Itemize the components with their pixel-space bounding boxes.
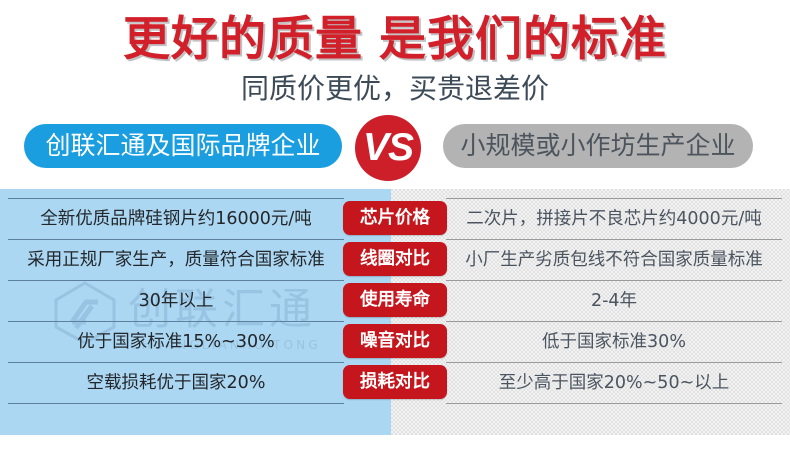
vs-badge: VS [355,115,421,181]
row-right-value: 2-4年 [446,281,782,321]
vs-band: 创联汇通及国际品牌企业 VS 小规模或小作坊生产企业 [0,118,790,180]
row-badge: 噪音对比 [343,324,447,358]
row-left-value: 全新优质品牌硅钢片约16000元/吨 [8,199,344,239]
vs-right-pill: 小规模或小作坊生产企业 [443,124,753,168]
table-row: 30年以上 使用寿命 2-4年 [0,280,790,321]
page-title: 更好的质量是我们的标准 [0,12,790,68]
row-right-value: 小厂生产劣质包线不符合国家质量标准 [446,240,782,280]
row-right-value: 至少高于国家20%~50~以上 [446,363,782,403]
promo-comparison-page: 更好的质量是我们的标准 同质价更优，买贵退差价 创联汇通及国际品牌企业 VS 小… [0,0,790,464]
row-badge: 线圈对比 [343,242,447,276]
table-bottom-divider-left [8,403,344,404]
row-badge: 使用寿命 [343,283,447,317]
row-left-value: 空载损耗优于国家20% [8,363,344,403]
row-badge: 芯片价格 [343,201,447,235]
row-left-value: 采用正规厂家生产，质量符合国家标准 [8,240,344,280]
row-badge: 损耗对比 [343,365,447,399]
row-right-value: 二次片，拼接片不良芯片约4000元/吨 [446,199,782,239]
page-title-part1: 更好的质量 [123,12,363,67]
table-bottom-divider-right [446,403,782,404]
comparison-rows: 全新优质品牌硅钢片约16000元/吨 芯片价格 二次片，拼接片不良芯片约4000… [0,189,790,435]
row-left-value: 优于国家标准15%~30% [8,322,344,362]
table-row: 空载损耗优于国家20% 损耗对比 至少高于国家20%~50~以上 [0,362,790,403]
row-left-value: 30年以上 [8,281,344,321]
row-right-value: 低于国家标准30% [446,322,782,362]
page-title-part2: 是我们的标准 [379,12,667,67]
page-subtitle: 同质价更优，买贵退差价 [0,72,790,106]
table-row: 优于国家标准15%~30% 噪音对比 低于国家标准30% [0,321,790,362]
table-row: 全新优质品牌硅钢片约16000元/吨 芯片价格 二次片，拼接片不良芯片约4000… [0,198,790,239]
vs-left-pill: 创联汇通及国际品牌企业 [24,124,342,168]
table-row: 采用正规厂家生产，质量符合国家标准 线圈对比 小厂生产劣质包线不符合国家质量标准 [0,239,790,280]
